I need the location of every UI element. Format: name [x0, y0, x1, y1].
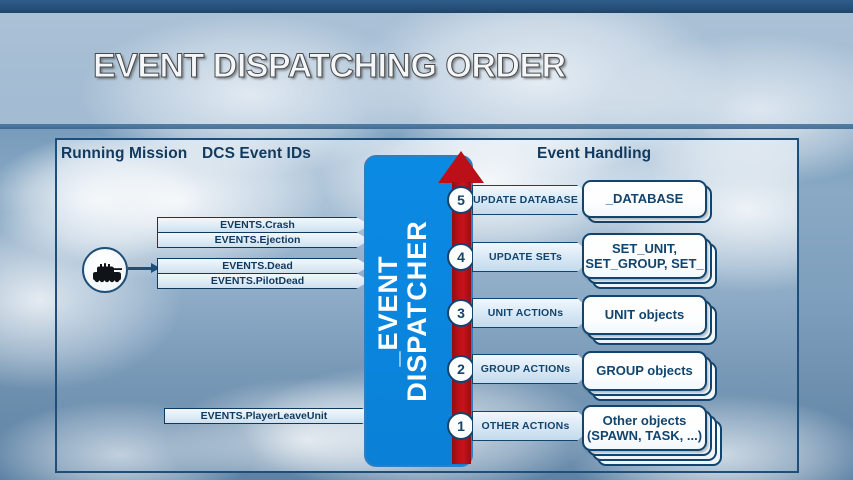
- object-card-database[interactable]: _DATABASE: [582, 180, 707, 218]
- page-title: EVENT DISPATCHING ORDER: [93, 47, 566, 86]
- object-card-sets-line-2: SET_GROUP, SET_: [585, 256, 703, 271]
- object-card-sets-line-1: SET_UNIT,: [612, 241, 677, 256]
- column-header-dcs-event-ids: DCS Event IDs: [202, 145, 311, 163]
- step-number-3: 3: [447, 299, 475, 327]
- column-header-running-mission: Running Mission: [61, 145, 187, 163]
- header-divider: [0, 124, 853, 129]
- step-number-5: 5: [447, 186, 475, 214]
- step-number-1: 1: [447, 412, 475, 440]
- priority-arrow-head-icon: [438, 151, 484, 183]
- event-arrow-pilotdead[interactable]: EVENTS.PilotDead: [157, 273, 370, 289]
- event-arrow-ejection[interactable]: EVENTS.Ejection: [157, 232, 370, 248]
- action-update-sets[interactable]: UPDATE SETs: [472, 242, 594, 272]
- event-arrow-dead[interactable]: EVENTS.Dead: [157, 258, 370, 274]
- step-number-2: 2: [447, 355, 475, 383]
- object-card-sets[interactable]: SET_UNIT, SET_GROUP, SET_: [582, 233, 707, 279]
- top-accent-band: [0, 0, 853, 13]
- event-arrow-crash[interactable]: EVENTS.Crash: [157, 217, 370, 233]
- object-card-other-line-1: Other objects: [603, 413, 687, 428]
- object-card-other-line-2: (SPAWN, TASK, ...): [587, 428, 702, 443]
- unit-to-events-connector: [128, 267, 158, 270]
- column-header-event-handling: Event Handling: [537, 145, 651, 163]
- mission-unit-badge: [82, 247, 128, 293]
- object-card-other[interactable]: Other objects (SPAWN, TASK, ...): [582, 405, 707, 451]
- dispatcher-label-line-2: DISPATCHER: [402, 220, 432, 402]
- tank-icon: [91, 261, 123, 283]
- action-update-database[interactable]: UPDATE DATABASE: [472, 185, 594, 215]
- event-arrow-playerleaveunit[interactable]: EVENTS.PlayerLeaveUnit: [164, 408, 376, 424]
- action-unit-actions[interactable]: UNIT ACTIONs: [472, 298, 594, 328]
- action-group-actions[interactable]: GROUP ACTIONs: [472, 354, 594, 384]
- action-other-actions[interactable]: OTHER ACTIONs: [472, 411, 594, 441]
- object-card-unit[interactable]: UNIT objects: [582, 295, 707, 335]
- event-dispatcher-label: _EVENT DISPATCHER: [373, 161, 431, 461]
- step-number-4: 4: [447, 243, 475, 271]
- object-card-group[interactable]: GROUP objects: [582, 351, 707, 391]
- dispatcher-label-line-1: _EVENT: [372, 255, 402, 366]
